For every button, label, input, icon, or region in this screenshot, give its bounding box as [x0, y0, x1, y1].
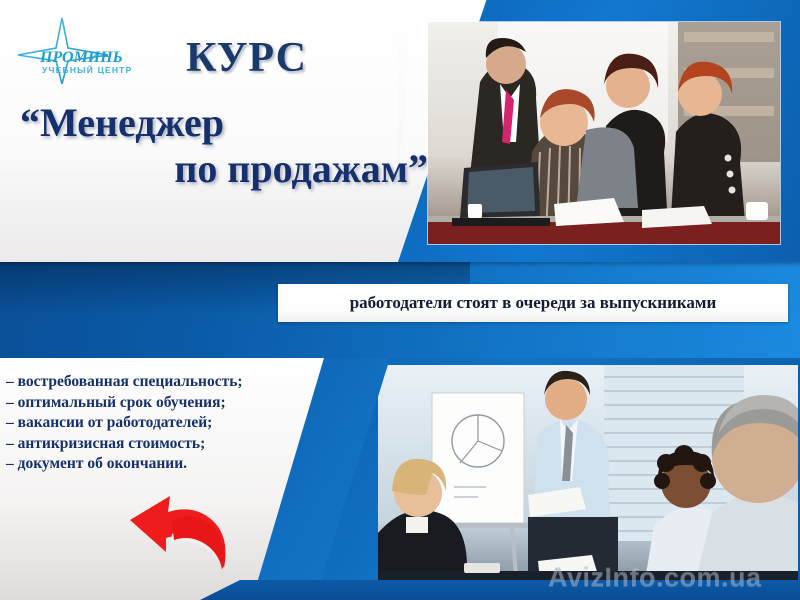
page-eyebrow: КУРС	[186, 34, 307, 82]
banner-label: работодатели стоят в очереди за выпускни…	[278, 284, 788, 322]
promo-banner: ПРОМИНЬ УЧЕБНЫЙ ЦЕНТР КУРС “Менеджер по …	[0, 0, 800, 600]
benefits-list: – востребованная специальность; – оптима…	[6, 372, 326, 475]
benefit-item-3: – вакансии от работодателей;	[6, 413, 326, 434]
logo[interactable]: ПРОМИНЬ УЧЕБНЫЙ ЦЕНТР	[16, 14, 156, 84]
logo-main-text: ПРОМИНЬ	[39, 49, 123, 66]
page-title-line-2: по продажам”	[14, 146, 434, 192]
logo-sub-text: УЧЕБНЫЙ ЦЕНТР	[42, 64, 132, 75]
banner-label-text: работодатели стоят в очереди за выпускни…	[350, 293, 717, 313]
benefit-item-1: – востребованная специальность;	[6, 372, 326, 393]
page-title-line-1: “Менеджер	[14, 100, 434, 146]
page-title: “Менеджер по продажам”	[14, 100, 434, 192]
benefit-item-2: – оптимальный срок обучения;	[6, 393, 326, 414]
benefit-item-4: – антикризисная стоимость;	[6, 434, 326, 455]
red-arrow-icon	[126, 486, 246, 586]
logo-wordmark: ПРОМИНЬ УЧЕБНЫЙ ЦЕНТР	[38, 46, 158, 76]
mid-band-top-edge	[0, 262, 800, 267]
photo-business-team	[428, 22, 780, 244]
photo-training-session	[378, 365, 798, 587]
benefit-item-5: – документ об окончании.	[6, 454, 326, 475]
